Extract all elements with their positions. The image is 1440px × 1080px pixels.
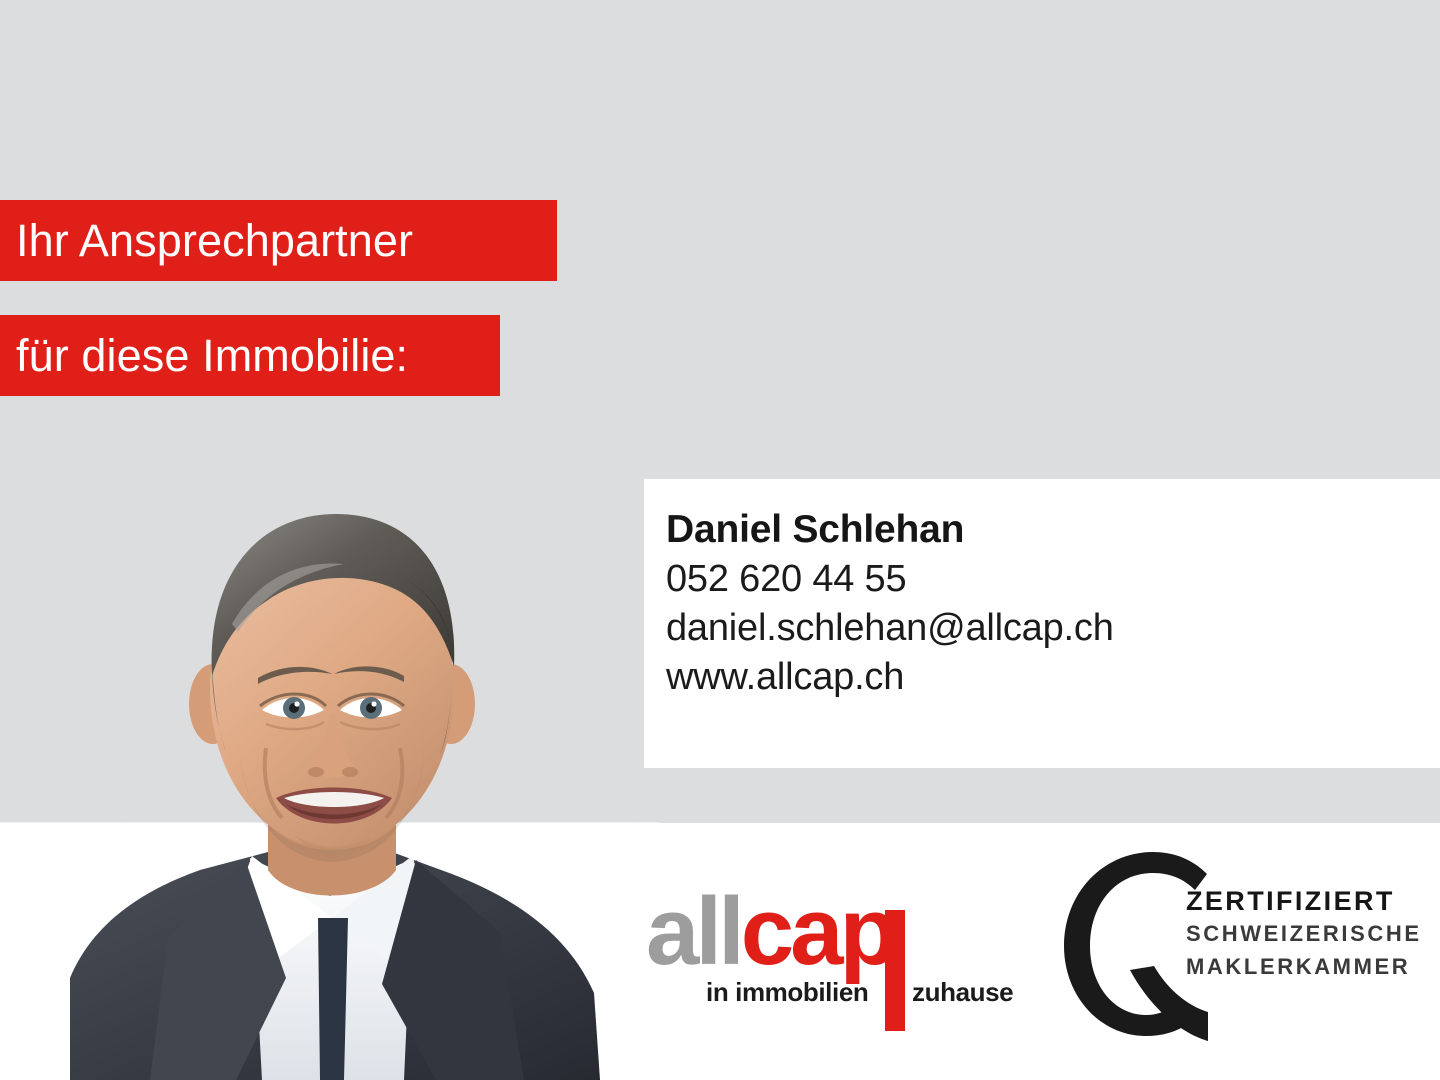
- contact-card: Daniel Schlehan 052 620 44 55 daniel.sch…: [644, 479, 1440, 768]
- contact-phone[interactable]: 052 620 44 55: [666, 555, 1440, 604]
- certification-badge[interactable]: ZERTIFIZIERT SCHWEIZERISCHE MAKLERKAMMER: [1058, 846, 1378, 1051]
- allcap-wordmark-cap: cap: [741, 878, 894, 985]
- headline-text-line2: für diese Immobilie:: [16, 333, 408, 378]
- headline-text-line1: Ihr Ansprechpartner: [16, 218, 413, 263]
- contact-email[interactable]: daniel.schlehan@allcap.ch: [666, 604, 1440, 653]
- allcap-wordmark-all: all: [646, 878, 741, 985]
- contact-website[interactable]: www.allcap.ch: [666, 653, 1440, 702]
- contact-slide: Ihr Ansprechpartner für diese Immobilie:: [0, 0, 1440, 1080]
- allcap-tagline-left: in immobilien: [706, 977, 868, 1008]
- contact-name: Daniel Schlehan: [666, 505, 1440, 555]
- certification-line2: SCHWEIZERISCHE: [1186, 917, 1422, 950]
- agent-portrait-photo: [0, 418, 660, 1080]
- headline-banner-line2: für diese Immobilie:: [0, 315, 500, 396]
- headline-banner-line1: Ihr Ansprechpartner: [0, 200, 557, 281]
- allcap-logo[interactable]: allcap in immobilien zuhause: [646, 884, 1026, 1012]
- certification-text-block: ZERTIFIZIERT SCHWEIZERISCHE MAKLERKAMMER: [1186, 886, 1422, 983]
- allcap-logo-red-bar: [885, 910, 905, 1031]
- allcap-wordmark: allcap: [646, 884, 894, 980]
- certification-line3: MAKLERKAMMER: [1186, 950, 1422, 983]
- certification-line1: ZERTIFIZIERT: [1186, 886, 1422, 917]
- allcap-tagline-right: zuhause: [912, 977, 1013, 1008]
